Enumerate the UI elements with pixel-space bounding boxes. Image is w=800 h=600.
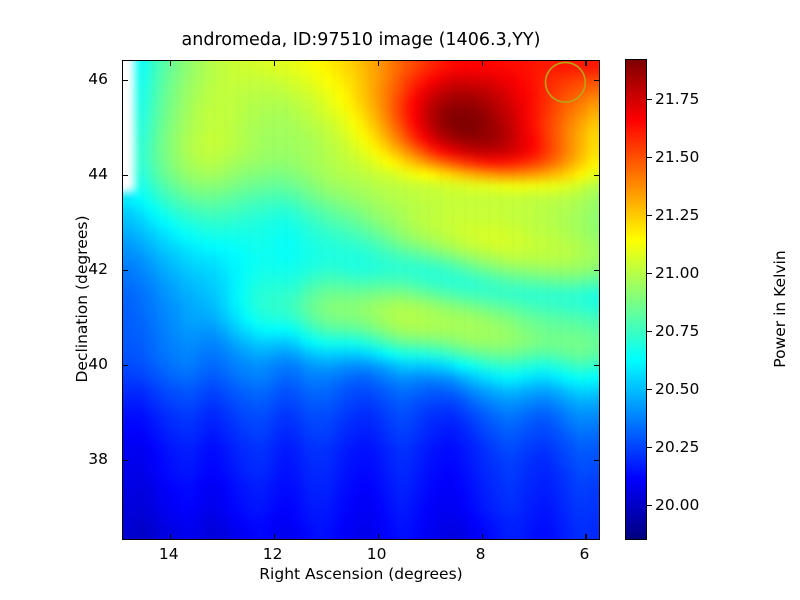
- y-tick-mark: [123, 365, 128, 366]
- y-tick-mark-right: [594, 80, 599, 81]
- colorbar-tick-mark: [647, 389, 652, 390]
- chart-title: andromeda, ID:97510 image (1406.3,YY): [122, 30, 600, 50]
- colorbar-tick-mark: [647, 273, 652, 274]
- x-tick-label: 8: [476, 545, 486, 563]
- y-tick-mark-right: [594, 460, 599, 461]
- x-tick-mark-top: [170, 61, 171, 66]
- figure-canvas: andromeda, ID:97510 image (1406.3,YY) 14…: [0, 0, 800, 600]
- x-tick-mark-top: [585, 61, 586, 66]
- x-tick-mark: [274, 534, 275, 539]
- y-tick-mark: [123, 270, 128, 271]
- colorbar-tick-label: 21.25: [655, 206, 699, 224]
- colorbar-tick-mark: [647, 157, 652, 158]
- colorbar-tick-label: 21.75: [655, 90, 699, 108]
- y-tick-mark: [123, 175, 128, 176]
- x-tick-mark: [170, 534, 171, 539]
- y-tick-mark: [123, 80, 128, 81]
- y-tick-label: 46: [0, 70, 108, 88]
- colorbar-tick-label: 21.00: [655, 264, 699, 282]
- colorbar-tick-label: 20.25: [655, 438, 699, 456]
- x-tick-mark-top: [274, 61, 275, 66]
- colorbar-tick-mark: [647, 505, 652, 506]
- colorbar-tick-label: 20.50: [655, 380, 699, 398]
- colorbar-tick-label: 20.00: [655, 496, 699, 514]
- y-tick-label: 40: [0, 355, 108, 373]
- y-tick-mark-right: [594, 175, 599, 176]
- y-tick-mark-right: [594, 270, 599, 271]
- x-tick-mark-top: [482, 61, 483, 66]
- x-tick-mark: [482, 534, 483, 539]
- x-tick-label: 10: [367, 545, 387, 563]
- colorbar-tick-mark: [647, 331, 652, 332]
- x-tick-mark: [585, 534, 586, 539]
- colorbar-tick-mark: [647, 215, 652, 216]
- x-axis-label: Right Ascension (degrees): [122, 565, 600, 583]
- colorbar-label: Power in Kelvin: [771, 69, 789, 549]
- colorbar[interactable]: [625, 59, 647, 540]
- source-marker-circle: [545, 62, 585, 102]
- y-tick-mark: [123, 460, 128, 461]
- y-axis-label: Declination (degrees): [73, 59, 91, 539]
- y-tick-label: 38: [0, 450, 108, 468]
- y-tick-label: 42: [0, 260, 108, 278]
- heatmap-axes[interactable]: [122, 60, 600, 540]
- x-tick-label: 6: [579, 545, 589, 563]
- x-tick-label: 12: [263, 545, 283, 563]
- colorbar-tick-label: 20.75: [655, 322, 699, 340]
- y-tick-label: 44: [0, 165, 108, 183]
- x-tick-mark-top: [378, 61, 379, 66]
- colorbar-gradient: [626, 60, 646, 539]
- colorbar-tick-mark: [647, 447, 652, 448]
- annotation-overlay: [123, 61, 599, 539]
- colorbar-tick-mark: [647, 99, 652, 100]
- x-tick-label: 14: [159, 545, 179, 563]
- y-tick-mark-right: [594, 365, 599, 366]
- colorbar-tick-label: 21.50: [655, 148, 699, 166]
- x-tick-mark: [378, 534, 379, 539]
